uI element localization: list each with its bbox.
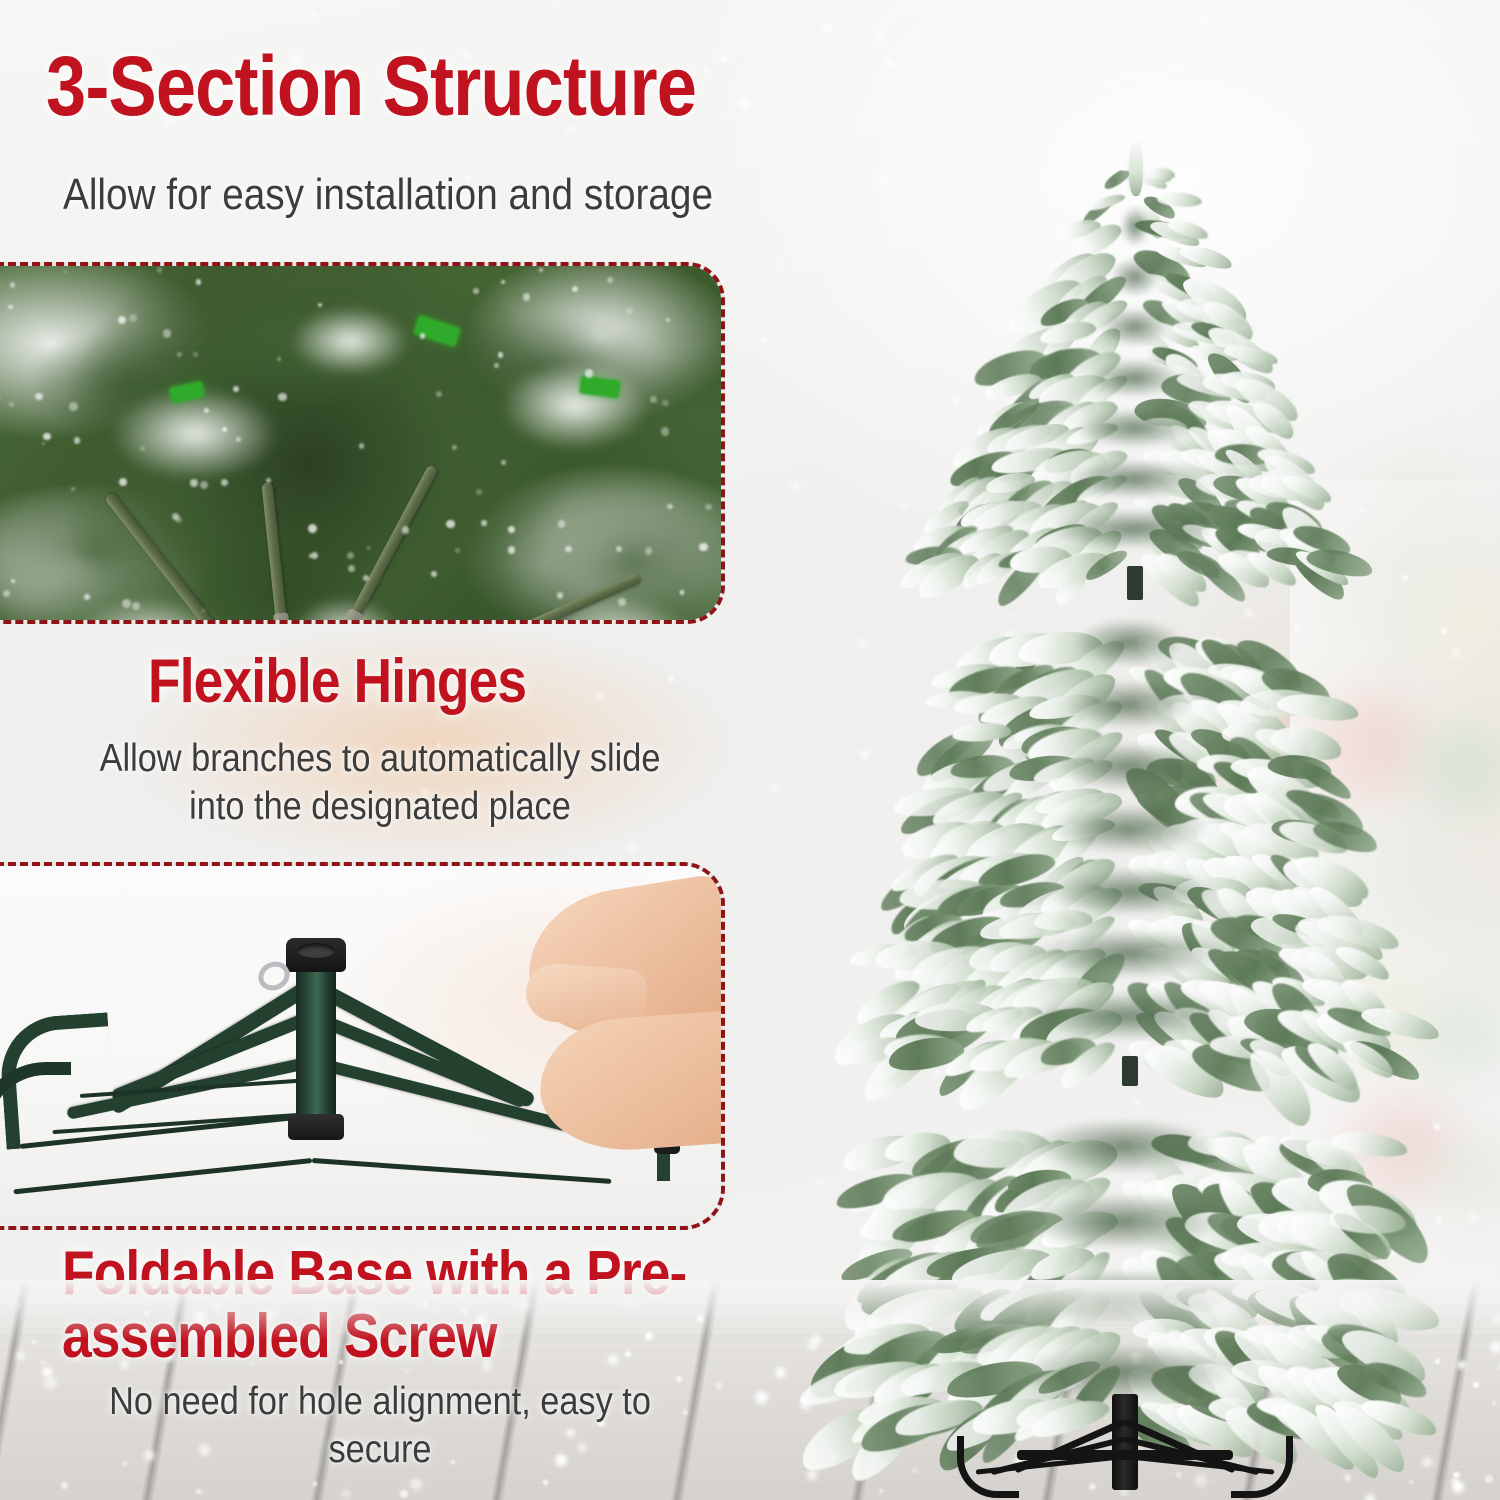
subline-hinges: Allow branches to automatically slide in… (81, 735, 679, 830)
subline-foldable-base: No need for hole alignment, easy to secu… (81, 1378, 679, 1473)
subline-structure: Allow for easy installation and storage (63, 168, 713, 222)
stand-column-cap (286, 938, 346, 972)
infographic-canvas: 3-Section Structure Allow for easy insta… (0, 0, 1500, 1500)
stand-column-foot (288, 1114, 344, 1140)
text-layer: 3-Section Structure Allow for easy insta… (0, 0, 1500, 1500)
stand-center-column (296, 950, 336, 1128)
headline-structure: 3-Section Structure (46, 44, 696, 130)
headline-hinges: Flexible Hinges (148, 650, 526, 713)
